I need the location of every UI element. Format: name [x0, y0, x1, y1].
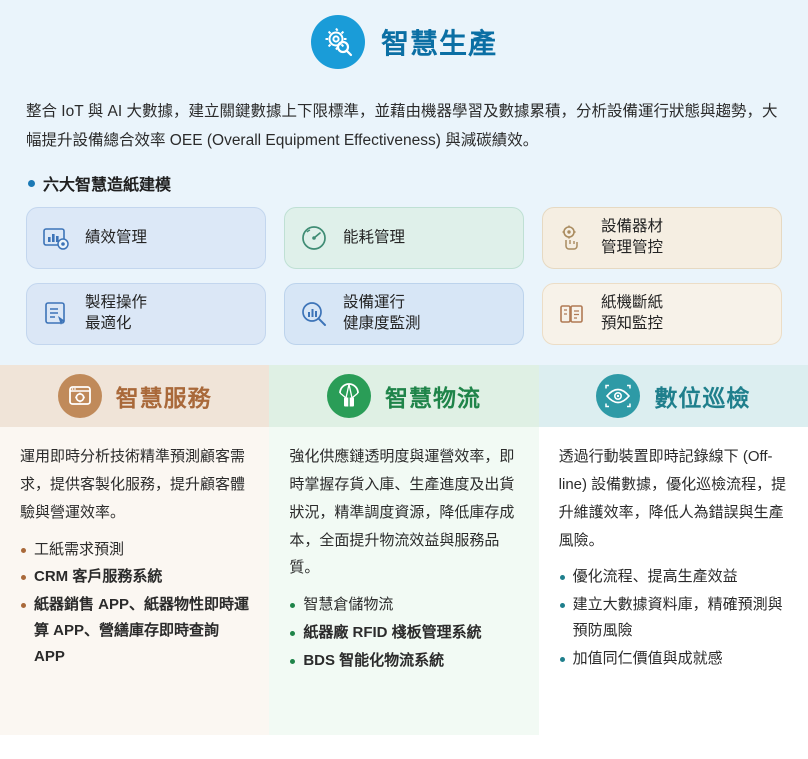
chart-gear-icon [41, 223, 71, 253]
list-item: 智慧倉儲物流 [289, 592, 518, 618]
column-header-service: 智慧服務 [0, 365, 269, 427]
document-cursor-icon [41, 299, 71, 329]
eye-scan-icon [596, 374, 640, 418]
gauge-icon [299, 223, 329, 253]
column-body-inspection: 透過行動裝置即時記錄線下 (Off-line) 設備數據，優化巡檢流程，提升維護… [539, 427, 808, 683]
list-item: 工紙需求預測 [20, 537, 249, 563]
model-card-label: 紙機斷紙 預知監控 [601, 293, 663, 335]
list-item: 紙器銷售 APP、紙器物性即時運算 APP、營繕庫存即時查詢 APP [20, 592, 249, 669]
smart-production-header: 智慧生產 [0, 0, 808, 84]
list-item: 加值同仁價值與成就感 [559, 646, 788, 672]
list-item: 紙器廠 RFID 棧板管理系統 [289, 620, 518, 646]
column-digital-inspection: 數位巡檢 透過行動裝置即時記錄線下 (Off-line) 設備數據，優化巡檢流程… [539, 365, 808, 735]
column-smart-logistics: 智慧物流 強化供應鏈透明度與運營效率，即時掌握存貨入庫、生產進度及出貨狀況，精準… [269, 365, 538, 735]
list-item: CRM 客戶服務系統 [20, 564, 249, 590]
column-title-service: 智慧服務 [116, 379, 212, 413]
model-card-performance[interactable]: 績效管理 [26, 207, 266, 269]
model-card-label: 製程操作 最適化 [85, 293, 147, 335]
box-parachute-icon [327, 374, 371, 418]
column-paragraph-logistics: 強化供應鏈透明度與運營效率，即時掌握存貨入庫、生產進度及出貨狀況，精準調度資源，… [289, 443, 518, 582]
smart-production-subtitle-row: 六大智慧造紙建模 [28, 171, 786, 195]
list-item: 優化流程、提高生產效益 [559, 564, 788, 590]
service-screen-gear-icon [58, 374, 102, 418]
column-smart-service: 智慧服務 運用即時分析技術精準預測顧客需求，提供客製化服務，提升顧客體驗與營運效… [0, 365, 269, 735]
model-card-label: 設備運行 健康度監測 [343, 293, 421, 335]
smart-production-subtitle: 六大智慧造紙建模 [43, 171, 171, 195]
smart-production-title: 智慧生產 [381, 22, 497, 62]
infographic-page: 智慧生產 整合 IoT 與 AI 大數據，建立關鍵數據上下限標準，並藉由機器學習… [0, 0, 808, 759]
list-item: 建立大數據資料庫，精確預測與預防風險 [559, 592, 788, 644]
model-card-label: 能耗管理 [343, 228, 405, 249]
column-header-logistics: 智慧物流 [269, 365, 538, 427]
column-title-logistics: 智慧物流 [385, 379, 481, 413]
column-bullets-inspection: 優化流程、提高生產效益 建立大數據資料庫，精確預測與預防風險 加值同仁價值與成就… [559, 564, 788, 671]
column-bullets-logistics: 智慧倉儲物流 紙器廠 RFID 棧板管理系統 BDS 智能化物流系統 [289, 592, 518, 673]
bottom-columns: 智慧服務 運用即時分析技術精準預測顧客需求，提供客製化服務，提升顧客體驗與營運效… [0, 365, 808, 735]
column-bullets-service: 工紙需求預測 CRM 客戶服務系統 紙器銷售 APP、紙器物性即時運算 APP、… [20, 537, 249, 670]
smart-production-section: 智慧生產 整合 IoT 與 AI 大數據，建立關鍵數據上下限標準，並藉由機器學習… [0, 0, 808, 365]
column-paragraph-service: 運用即時分析技術精準預測顧客需求，提供客製化服務，提升顧客體驗與營運效率。 [20, 443, 249, 526]
column-body-service: 運用即時分析技術精準預測顧客需求，提供客製化服務，提升顧客體驗與營運效率。 工紙… [0, 427, 269, 681]
smart-production-intro: 整合 IoT 與 AI 大數據，建立關鍵數據上下限標準，並藉由機器學習及數據累積… [22, 84, 786, 161]
model-card-label: 績效管理 [85, 228, 147, 249]
gear-hand-icon [557, 223, 587, 253]
smart-production-body: 整合 IoT 與 AI 大數據，建立關鍵數據上下限標準，並藉由機器學習及數據累積… [0, 84, 808, 365]
list-item: BDS 智能化物流系統 [289, 648, 518, 674]
model-card-health[interactable]: 設備運行 健康度監測 [284, 283, 524, 345]
magnify-chart-icon [299, 299, 329, 329]
model-card-label: 設備器材 管理管控 [601, 217, 663, 259]
model-card-process[interactable]: 製程操作 最適化 [26, 283, 266, 345]
model-card-paper-break[interactable]: 紙機斷紙 預知監控 [542, 283, 782, 345]
column-body-logistics: 強化供應鏈透明度與運營效率，即時掌握存貨入庫、生產進度及出貨狀況，精準調度資源，… [269, 427, 538, 685]
footer-strip [0, 735, 808, 745]
model-card-grid: 績效管理 能耗管理 [22, 207, 786, 349]
column-paragraph-inspection: 透過行動裝置即時記錄線下 (Off-line) 設備數據，優化巡檢流程，提升維護… [559, 443, 788, 554]
model-card-equipment[interactable]: 設備器材 管理管控 [542, 207, 782, 269]
column-header-inspection: 數位巡檢 [539, 365, 808, 427]
paper-roll-icon [557, 299, 587, 329]
model-card-energy[interactable]: 能耗管理 [284, 207, 524, 269]
gear-magnify-icon [311, 15, 365, 69]
column-title-inspection: 數位巡檢 [654, 379, 750, 413]
bullet-dot-icon [28, 180, 35, 187]
